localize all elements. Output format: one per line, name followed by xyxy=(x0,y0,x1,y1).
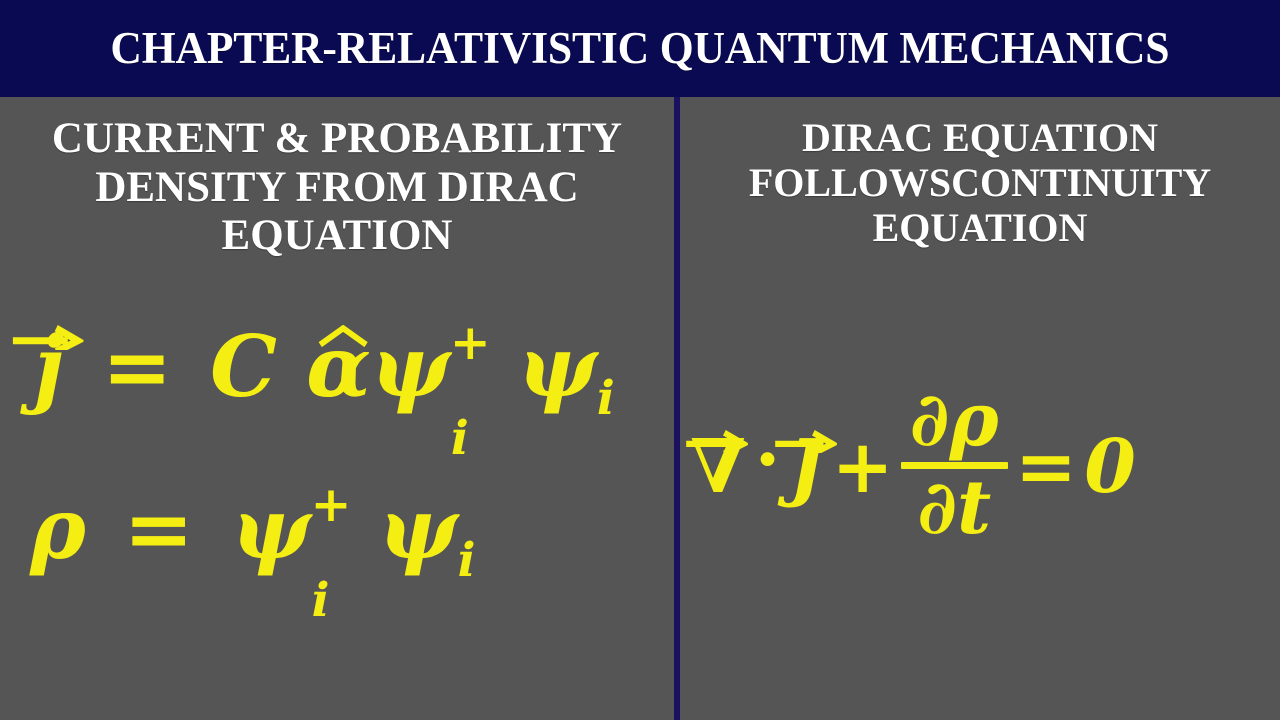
equation-probability-density: ρ = ψ+i ψi xyxy=(30,487,475,571)
subscript-i-2: i xyxy=(458,537,476,584)
symbol-current-j: J xyxy=(789,424,824,510)
symbol-psi-dagger: ψ xyxy=(232,479,311,578)
subscript-i: i xyxy=(451,415,469,462)
partial-symbol: ∂ xyxy=(910,377,950,463)
vector-j: j xyxy=(34,325,64,409)
symbol-psi-dagger: ψ xyxy=(371,317,450,416)
equation-continuity: ∇ · J + ∂ρ ∂t = xyxy=(690,385,1136,550)
left-panel-heading: CURRENT & PROBABILITY DENSITY FROM DIRAC… xyxy=(8,115,666,261)
subscript-i: i xyxy=(312,577,330,624)
symbol-j: j xyxy=(34,317,64,416)
symbol-psi: ψ xyxy=(518,317,597,416)
chapter-header-band: CHAPTER-RELATIVISTIC QUANTUM MECHANICS xyxy=(0,0,1280,97)
alpha-hat: α xyxy=(306,325,371,409)
symbol-alpha: α xyxy=(306,317,371,416)
vector-nabla: ∇ xyxy=(690,430,746,504)
equation-current-density: j = C α ψ+i ψi xyxy=(34,325,615,409)
fraction-denominator: ∂t xyxy=(901,470,1008,547)
vector-current-j: J xyxy=(789,430,824,504)
dot-product-operator: · xyxy=(746,423,790,497)
equals-sign: = xyxy=(115,479,202,578)
symbol-rho: ρ xyxy=(949,377,998,463)
equals-sign: = xyxy=(1008,430,1085,504)
superscript-plus: + xyxy=(450,319,491,368)
symbol-rho: ρ xyxy=(30,479,86,578)
left-panel: CURRENT & PROBABILITY DENSITY FROM DIRAC… xyxy=(0,97,674,720)
symbol-t: t xyxy=(957,465,991,551)
superscript-plus: + xyxy=(311,481,352,530)
symbol-nabla: ∇ xyxy=(690,424,746,510)
fraction-numerator: ∂ρ xyxy=(901,382,1008,459)
symbol-psi: ψ xyxy=(379,479,458,578)
partial-symbol: ∂ xyxy=(917,465,957,551)
page-title: CHAPTER-RELATIVISTIC QUANTUM MECHANICS xyxy=(111,26,1170,71)
subscript-i-2: i xyxy=(597,375,615,422)
panel-divider xyxy=(674,97,680,720)
rhs-zero: 0 xyxy=(1084,430,1136,504)
right-panel-heading: DIRAC EQUATION FOLLOWSCONTINUITY EQUATIO… xyxy=(684,115,1276,251)
slide-canvas: CHAPTER-RELATIVISTIC QUANTUM MECHANICS C… xyxy=(0,0,1280,720)
partial-derivative-fraction: ∂ρ ∂t xyxy=(901,382,1008,547)
content-area: CURRENT & PROBABILITY DENSITY FROM DIRAC… xyxy=(0,97,1280,720)
coefficient-c: C xyxy=(210,317,277,416)
plus-sign: + xyxy=(824,430,901,504)
right-panel: DIRAC EQUATION FOLLOWSCONTINUITY EQUATIO… xyxy=(680,97,1280,720)
equals-sign: = xyxy=(94,317,181,416)
